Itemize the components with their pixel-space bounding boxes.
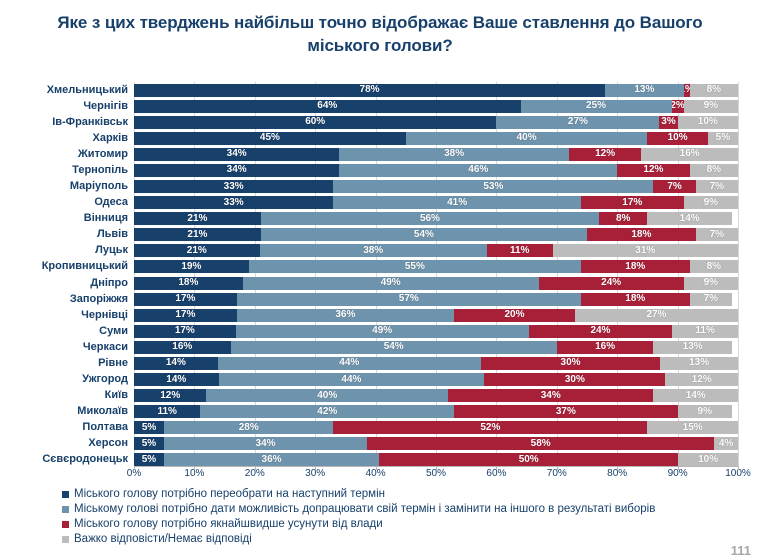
bar-segment-value: 34% (256, 439, 276, 449)
bar-segment-3: 9% (684, 196, 738, 209)
bar-row[interactable]: 34%46%12%8% (134, 164, 738, 177)
bar-segment-1: 38% (260, 244, 487, 257)
category-label: Хмельницький (0, 84, 128, 97)
category-label: Одеса (0, 196, 128, 209)
bar-segment-value: 13% (683, 342, 703, 352)
bar-segment-1: 38% (339, 148, 569, 161)
bar-segment-0: 21% (134, 212, 261, 225)
bar-segment-2: 18% (581, 293, 690, 306)
legend-label: Міського голову потрібно переобрати на н… (74, 487, 385, 501)
stacked-bar-chart: 78%13%1%8%64%25%2%9%60%27%3%10%45%40%10%… (0, 82, 757, 482)
bar-segment-1: 28% (164, 421, 333, 434)
bar-row[interactable]: 11%42%37%9% (134, 405, 738, 418)
bar-segment-value: 57% (399, 294, 419, 304)
bar-segment-0: 5% (134, 437, 164, 450)
bar-segment-value: 9% (698, 407, 712, 417)
bar-segment-value: 18% (631, 230, 651, 240)
bar-segment-value: 13% (689, 358, 709, 368)
bar-segment-value: 34% (227, 149, 247, 159)
bar-segment-value: 25% (586, 101, 606, 111)
bar-row[interactable]: 34%38%12%16% (134, 148, 738, 161)
bar-segment-value: 78% (360, 85, 380, 95)
bar-segment-value: 11% (510, 246, 529, 256)
bar-row[interactable]: 18%49%24%9% (134, 277, 738, 290)
bar-segment-2: 30% (484, 373, 665, 386)
bar-segment-2: 11% (487, 244, 553, 257)
category-label: Ужгород (0, 373, 128, 386)
bar-segment-value: 17% (175, 310, 195, 320)
category-label: Луцьк (0, 244, 128, 257)
bar-segment-value: 10% (668, 133, 688, 143)
bar-segment-2: 20% (454, 309, 575, 322)
bar-segment-value: 5% (142, 423, 156, 433)
category-label: Тернопіль (0, 164, 128, 177)
bar-segment-0: 5% (134, 421, 164, 434)
bar-segment-2: 10% (647, 132, 707, 145)
bar-segment-0: 34% (134, 148, 339, 161)
bar-segment-value: 40% (317, 391, 337, 401)
bar-segment-1: 57% (237, 293, 581, 306)
chart-legend: Міського голову потрібно переобрати на н… (62, 487, 752, 547)
bar-segment-3: 10% (678, 116, 738, 129)
slide-root: Яке з цих тверджень найбільш точно відоб… (0, 0, 757, 560)
bar-segment-3: 7% (696, 180, 738, 193)
bar-row[interactable]: 14%44%30%12% (134, 373, 738, 386)
legend-item[interactable]: Міського голову потрібно якнайшвидше усу… (62, 517, 752, 531)
bar-segment-1: 25% (521, 100, 672, 113)
bar-segment-value: 11% (157, 407, 176, 417)
bar-row[interactable]: 21%56%8%14% (134, 212, 738, 225)
bar-segment-value: 17% (622, 198, 642, 208)
bar-segment-2: 12% (569, 148, 641, 161)
bar-segment-0: 14% (134, 357, 218, 370)
bar-segment-0: 17% (134, 293, 237, 306)
legend-label: Міському голові потрібно дати можливість… (74, 502, 655, 516)
bar-segment-value: 7% (710, 182, 724, 192)
x-tick-mark (738, 466, 739, 470)
bar-segment-2: 16% (557, 341, 654, 354)
bar-segment-value: 54% (414, 230, 434, 240)
category-label: Запоріжжя (0, 293, 128, 306)
bar-segment-value: 52% (480, 423, 500, 433)
bar-segment-0: 14% (134, 373, 219, 386)
bar-segment-1: 13% (605, 84, 684, 97)
category-label: Харків (0, 132, 128, 145)
plot-area: 78%13%1%8%64%25%2%9%60%27%3%10%45%40%10%… (134, 82, 738, 468)
bar-segment-value: 11% (695, 326, 714, 336)
bar-row[interactable]: 21%38%11%31% (134, 244, 738, 257)
x-tick-mark (134, 466, 135, 470)
bar-segment-1: 53% (333, 180, 653, 193)
bar-segment-3: 8% (690, 164, 738, 177)
bar-row[interactable]: 17%36%20%27% (134, 309, 738, 322)
bar-segment-1: 36% (237, 309, 454, 322)
category-label: Львів (0, 228, 128, 241)
bar-segment-value: 56% (420, 214, 440, 224)
bar-segment-0: 34% (134, 164, 339, 177)
bar-segment-value: 36% (335, 310, 355, 320)
bar-segment-value: 49% (381, 278, 401, 288)
bar-segment-2: 12% (617, 164, 689, 177)
bar-segment-3: 14% (653, 389, 738, 402)
category-label: Дніпро (0, 277, 128, 290)
bar-segment-1: 42% (200, 405, 454, 418)
bar-segment-0: 33% (134, 196, 333, 209)
bar-row[interactable]: 21%54%18%7% (134, 228, 738, 241)
bar-segment-value: 33% (224, 198, 244, 208)
bar-segment-value: 33% (224, 182, 244, 192)
bar-segment-value: 20% (505, 310, 525, 320)
bar-segment-value: 9% (704, 101, 718, 111)
bar-segment-value: 8% (707, 85, 721, 95)
bar-row[interactable]: 5%28%52%15% (134, 421, 738, 434)
bar-segment-2: 7% (653, 180, 695, 193)
bar-segment-2: 58% (367, 437, 714, 450)
bar-segment-value: 18% (625, 262, 645, 272)
category-label: Ів-Франківськ (0, 116, 128, 129)
bar-segment-2: 18% (581, 260, 690, 273)
page-title: Яке з цих тверджень найбільш точно відоб… (40, 12, 720, 58)
bar-row[interactable]: 16%54%16%13% (134, 341, 738, 354)
bar-row[interactable]: 17%57%18%7% (134, 293, 738, 306)
category-label: Кропивницький (0, 260, 128, 273)
bar-row[interactable]: 5%34%58%4% (134, 437, 738, 450)
bar-segment-1: 34% (164, 437, 367, 450)
category-label: Сєвєродонецьк (0, 453, 128, 466)
bar-segment-3: 15% (647, 421, 738, 434)
bar-segment-3: 7% (690, 293, 732, 306)
bar-segment-value: 58% (531, 439, 551, 449)
bar-segment-1: 54% (261, 228, 587, 241)
bar-segment-3: 27% (575, 309, 738, 322)
bar-segment-value: 27% (568, 117, 588, 127)
bar-segment-value: 12% (595, 149, 615, 159)
bar-segment-value: 2% (672, 101, 684, 111)
bar-segment-value: 7% (710, 230, 724, 240)
category-label: Херсон (0, 437, 128, 450)
bar-segment-value: 18% (178, 278, 198, 288)
bar-segment-value: 5% (142, 455, 156, 465)
bar-segment-3: 31% (553, 244, 738, 257)
category-label: Миколаїв (0, 405, 128, 418)
bar-segment-value: 54% (384, 342, 404, 352)
bar-segment-3: 8% (690, 84, 738, 97)
bar-row[interactable]: 33%41%17%9% (134, 196, 738, 209)
legend-item[interactable]: Міському голові потрібно дати можливість… (62, 502, 752, 516)
bar-segment-2: 17% (581, 196, 684, 209)
legend-swatch-icon (62, 536, 69, 543)
category-label: Маріуполь (0, 180, 128, 193)
bar-segment-value: 16% (172, 342, 192, 352)
bar-segment-value: 36% (262, 455, 282, 465)
legend-item[interactable]: Важко відповісти/Немає відповіді (62, 532, 752, 546)
x-tick-mark (315, 466, 316, 470)
bar-segment-value: 12% (160, 391, 180, 401)
bar-segment-value: 7% (667, 182, 681, 192)
bar-row[interactable]: 78%13%1%8% (134, 84, 738, 97)
bar-segment-1: 49% (236, 325, 529, 338)
bar-segment-value: 13% (634, 85, 654, 95)
bar-segment-value: 14% (166, 375, 186, 385)
x-tick-mark (496, 466, 497, 470)
bar-row[interactable]: 19%55%18%8% (134, 260, 738, 273)
category-label: Чернігів (0, 100, 128, 113)
bar-segment-0: 11% (134, 405, 200, 418)
bar-segment-value: 9% (704, 278, 718, 288)
bar-row[interactable]: 14%44%30%13% (134, 357, 738, 370)
bar-segment-value: 28% (239, 423, 259, 433)
bar-segment-0: 33% (134, 180, 333, 193)
bar-segment-3: 9% (678, 405, 732, 418)
bar-segment-3: 11% (672, 325, 738, 338)
bar-segment-value: 7% (704, 294, 718, 304)
x-tick-mark (557, 466, 558, 470)
bar-segment-2: 24% (539, 277, 684, 290)
bar-segment-1: 40% (406, 132, 648, 145)
bar-segment-1: 27% (496, 116, 659, 129)
bar-segment-3: 10% (678, 453, 738, 466)
x-axis-ticks: 0%10%20%30%40%50%60%70%80%90%100% (134, 468, 738, 482)
x-tick-mark (255, 466, 256, 470)
bar-segment-value: 30% (561, 358, 581, 368)
bar-segment-2: 18% (587, 228, 696, 241)
bar-row[interactable]: 5%36%50%10% (134, 453, 738, 466)
bar-segment-value: 42% (317, 407, 337, 417)
x-tick-mark (436, 466, 437, 470)
bar-row[interactable]: 45%40%10%5% (134, 132, 738, 145)
category-label: Рівне (0, 357, 128, 370)
bar-segment-0: 64% (134, 100, 521, 113)
legend-swatch-icon (62, 491, 69, 498)
bar-segment-1: 44% (219, 373, 485, 386)
bar-segment-0: 18% (134, 277, 243, 290)
bar-segment-value: 12% (643, 165, 663, 175)
bar-segment-2: 3% (659, 116, 677, 129)
bar-segment-value: 10% (698, 117, 718, 127)
bar-row[interactable]: 60%27%3%10% (134, 116, 738, 129)
bar-segment-value: 10% (698, 455, 718, 465)
bar-segment-1: 36% (164, 453, 379, 466)
bar-segment-value: 44% (341, 375, 361, 385)
bar-segment-value: 55% (405, 262, 425, 272)
bar-segment-value: 30% (565, 375, 585, 385)
bar-segment-1: 44% (218, 357, 481, 370)
bar-segment-3: 13% (653, 341, 732, 354)
bar-segment-value: 38% (444, 149, 464, 159)
bar-segment-0: 78% (134, 84, 605, 97)
bar-segment-value: 15% (683, 423, 703, 433)
bar-segment-value: 46% (468, 165, 488, 175)
bar-segment-3: 8% (690, 260, 738, 273)
bar-segment-value: 60% (305, 117, 325, 127)
legend-label: Важко відповісти/Немає відповіді (74, 532, 252, 546)
bar-segment-3: 12% (665, 373, 737, 386)
bar-segment-value: 40% (517, 133, 537, 143)
bar-segment-value: 14% (686, 391, 706, 401)
bar-segment-value: 14% (166, 358, 186, 368)
bar-segment-2: 24% (529, 325, 673, 338)
bar-segment-0: 60% (134, 116, 496, 129)
bar-segment-2: 30% (481, 357, 660, 370)
bar-segment-1: 54% (231, 341, 557, 354)
bar-segment-value: 27% (646, 310, 666, 320)
bar-segment-value: 16% (680, 149, 700, 159)
bar-segment-3: 14% (647, 212, 732, 225)
bar-segment-value: 14% (680, 214, 700, 224)
bar-segment-2: 34% (448, 389, 653, 402)
bar-segment-1: 46% (339, 164, 617, 177)
bar-segment-3: 4% (714, 437, 738, 450)
bar-row[interactable]: 64%25%2%9% (134, 100, 738, 113)
bar-segment-value: 5% (716, 133, 730, 143)
bar-segment-0: 45% (134, 132, 406, 145)
bar-segment-1: 49% (243, 277, 539, 290)
bar-segment-value: 21% (187, 230, 207, 240)
bar-segment-value: 41% (447, 198, 467, 208)
bar-segment-value: 4% (719, 439, 733, 449)
bar-segment-value: 38% (363, 246, 383, 256)
bar-segment-1: 56% (261, 212, 599, 225)
bar-segment-3: 7% (696, 228, 738, 241)
bar-segment-value: 8% (707, 262, 721, 272)
bar-segment-value: 34% (227, 165, 247, 175)
category-label: Київ (0, 389, 128, 402)
bar-segment-value: 24% (601, 278, 621, 288)
bar-segment-0: 16% (134, 341, 231, 354)
bar-segment-3: 13% (660, 357, 738, 370)
x-tick-mark (678, 466, 679, 470)
bar-segment-3: 9% (684, 277, 738, 290)
bar-segment-value: 16% (595, 342, 615, 352)
category-label: Вінниця (0, 212, 128, 225)
bar-segment-value: 12% (692, 375, 712, 385)
bar-segment-1: 55% (249, 260, 581, 273)
bar-segment-2: 8% (599, 212, 647, 225)
bar-segment-2: 2% (672, 100, 684, 113)
bar-row[interactable]: 12%40%34%14% (134, 389, 738, 402)
x-tick-mark (617, 466, 618, 470)
category-label: Суми (0, 325, 128, 338)
bar-segment-0: 21% (134, 228, 261, 241)
bar-segment-0: 17% (134, 309, 237, 322)
bar-segment-value: 37% (556, 407, 576, 417)
category-label: Житомир (0, 148, 128, 161)
gridline (738, 82, 739, 468)
bar-segment-value: 31% (635, 246, 655, 256)
bar-segment-value: 44% (339, 358, 359, 368)
category-label: Чернівці (0, 309, 128, 322)
bar-segment-value: 64% (317, 101, 337, 111)
bar-segment-value: 8% (707, 165, 721, 175)
page-number: 111 (731, 543, 751, 558)
bar-segment-value: 9% (704, 198, 718, 208)
bar-segment-value: 21% (187, 246, 207, 256)
bar-segment-3: 9% (684, 100, 738, 113)
bar-segment-0: 12% (134, 389, 206, 402)
bar-segment-1: 41% (333, 196, 581, 209)
bar-segment-3: 5% (708, 132, 738, 145)
category-label: Полтава (0, 421, 128, 434)
bar-segment-value: 50% (519, 455, 539, 465)
bar-segment-value: 8% (616, 214, 630, 224)
bar-segment-value: 24% (590, 326, 610, 336)
bar-row[interactable]: 17%49%24%11% (134, 325, 738, 338)
bar-segment-2: 37% (454, 405, 677, 418)
bar-segment-0: 21% (134, 244, 260, 257)
legend-swatch-icon (62, 506, 69, 513)
bar-segment-2: 52% (333, 421, 647, 434)
legend-item[interactable]: Міського голову потрібно переобрати на н… (62, 487, 752, 501)
bar-segment-value: 45% (260, 133, 280, 143)
bar-segment-value: 21% (187, 214, 207, 224)
bar-segment-0: 5% (134, 453, 164, 466)
bar-row[interactable]: 33%53%7%7% (134, 180, 738, 193)
bar-segment-value: 18% (625, 294, 645, 304)
bar-segment-1: 40% (206, 389, 448, 402)
bar-segment-value: 5% (142, 439, 156, 449)
bar-segment-value: 3% (661, 117, 675, 127)
bar-segment-value: 34% (541, 391, 561, 401)
bar-segment-value: 53% (483, 182, 503, 192)
legend-label: Міського голову потрібно якнайшвидше усу… (74, 517, 383, 531)
x-tick-mark (194, 466, 195, 470)
bar-segment-value: 49% (372, 326, 392, 336)
legend-swatch-icon (62, 521, 69, 528)
bar-segment-value: 19% (181, 262, 201, 272)
x-tick-mark (376, 466, 377, 470)
bar-segment-0: 19% (134, 260, 249, 273)
bar-segment-0: 17% (134, 325, 236, 338)
bar-segment-value: 17% (175, 326, 195, 336)
bar-segment-value: 17% (175, 294, 195, 304)
bar-segment-2: 50% (379, 453, 678, 466)
category-label: Черкаси (0, 341, 128, 354)
bar-segment-3: 16% (641, 148, 738, 161)
